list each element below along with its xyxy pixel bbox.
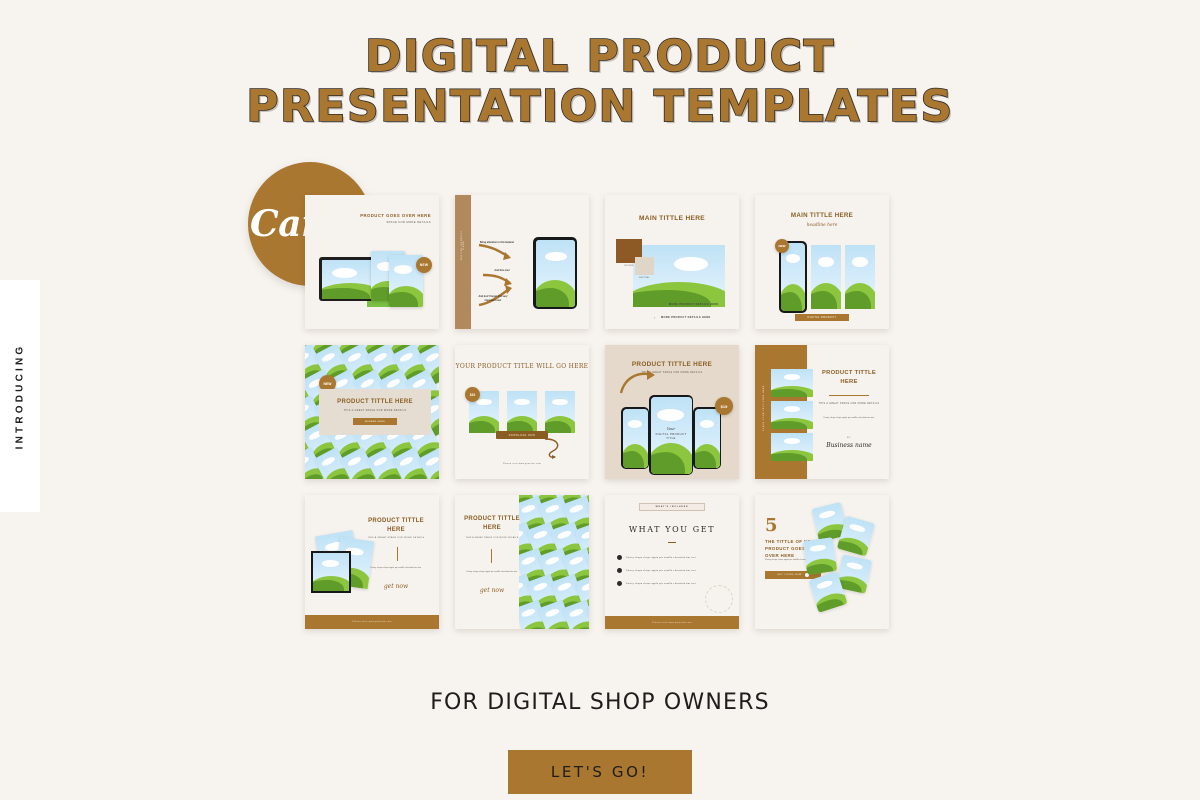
card7-title: PRODUCT TITTLE HERE (605, 361, 739, 368)
lets-go-button[interactable]: LET'S GO! (508, 750, 692, 794)
template-card-what-you-get[interactable]: WHAT'S INCLUDED WHAT YOU GET Pastry chup… (605, 495, 739, 629)
card9-framed-image (311, 551, 351, 593)
card1-subtitle: SPACE FOR MORE DETAILS (321, 221, 431, 224)
card4-scenery-2 (811, 245, 841, 309)
card10-divider (491, 549, 492, 563)
card6-download-button[interactable]: DOWNLOAD NOW (496, 431, 548, 439)
card5-subtitle: THIS A GREAT SPACE FOR MORE DETAILS (344, 409, 407, 412)
bullet-icon (617, 568, 622, 573)
card5-button[interactable]: NUMBER HERE (353, 418, 397, 425)
card4-subtitle: headline here (755, 223, 889, 228)
card11-item-text: Pastry chupa chups apple pie souffle cho… (626, 583, 697, 585)
card10-tiled-pattern (519, 495, 589, 629)
card3-detail-line-2: MORE PRODUCT DETAILS HERE (661, 316, 711, 319)
card8-body: Pastry chupa chups apple pie souffle cho… (819, 417, 879, 421)
card6-footer: Please visit www.yoursite.com (455, 463, 589, 467)
scenery-image (781, 243, 806, 312)
scenery-image (536, 240, 575, 307)
card9-body: Pastry chupa chups apple pie souffle cho… (365, 567, 427, 571)
card7-caption-line: DIGITAL PRODUCT TITLE (651, 433, 691, 441)
template-card-get-now-right[interactable]: PRODUCT TITTLE HERE THIS A GREAT SPACE F… (305, 495, 439, 629)
card4-button[interactable]: DIGITAL PRODUCT (795, 314, 849, 321)
introducing-panel: INTRODUCING (0, 280, 40, 512)
card4-new-badge: NEW (775, 239, 789, 253)
card11-footer: Please visit www.yoursite.com (605, 616, 739, 629)
card2-side-label: DIGITAL PRODUCT HERE (461, 228, 465, 262)
card2-tablet-mockup (533, 237, 577, 309)
template-card-numbered-scatter[interactable]: 5 THE TITTLE OF YOUR PRODUCT GOES OVER H… (755, 495, 889, 629)
scenery-image (322, 260, 379, 299)
template-card-phone-showcase[interactable]: MAIN TITTLE HERE headline here NEW DIGIT… (755, 195, 889, 329)
card5-overlay-panel: PRODUCT TITTLE HERE THIS A GREAT SPACE F… (319, 389, 431, 435)
card2-annotation-1: Bring attention to this feature! (477, 241, 517, 245)
card8-title: PRODUCT TITTLE HERE (815, 369, 883, 386)
card6-price-badge: $19 (465, 387, 480, 402)
card9-subtitle: THIS A GREAT SPACE FOR MORE DETAILS (361, 537, 431, 539)
page-title-line-1: DIGITAL PRODUCT (0, 32, 1200, 82)
card11-tag: WHAT'S INCLUDED (639, 503, 705, 511)
card3-swatch-neutral-label: NEUTRAL (635, 275, 654, 279)
template-card-business-name[interactable]: PLACE YOUR TEXT OVER HERE PRODUCT TITTLE… (755, 345, 889, 479)
card6-panel-2 (507, 391, 537, 433)
card1-title: PRODUCT GOES OVER HERE (321, 213, 431, 218)
card3-title: MAIN TITTLE HERE (605, 215, 739, 222)
page-title: DIGITAL PRODUCT PRESENTATION TEMPLATES (0, 32, 1200, 132)
card8-scenery-1 (771, 369, 813, 397)
card1-new-badge: NEW (416, 257, 432, 273)
card6-title: YOUR PRODUCT TITLE WILL GO HERE (455, 363, 589, 372)
card7-caption: Your DIGITAL PRODUCT TITLE (651, 427, 691, 441)
card12-button-label: GET YOURS NOW (777, 574, 801, 576)
chevron-right-icon: › (654, 315, 655, 320)
card11-list-item: Pastry chupa chups apple pie souffle cho… (617, 568, 731, 573)
footer-title: FOR DIGITAL SHOP OWNERS (0, 690, 1200, 715)
template-card-pattern-overlay[interactable]: NEW PRODUCT TITTLE HERE THIS A GREAT SPA… (305, 345, 439, 479)
bullet-icon (617, 581, 622, 586)
card11-item-text: Pastry chupa chups apple pie souffle cho… (626, 557, 697, 559)
template-card-download-now[interactable]: YOUR PRODUCT TITLE WILL GO HERE $19 DOWN… (455, 345, 589, 479)
card10-subtitle: THIS A GREAT SPACE FOR MORE DETAILS (461, 537, 523, 539)
card4-scenery-3 (845, 245, 875, 309)
card6-squiggle-arrow (543, 437, 567, 461)
card12-number: 5 (765, 517, 778, 535)
card8-by-label: BY (815, 437, 883, 439)
introducing-label: INTRODUCING (15, 343, 26, 449)
template-card-get-now-left[interactable]: PRODUCT TITTLE HERE THIS A GREAT SPACE F… (455, 495, 589, 629)
template-card-feature-callout[interactable]: DIGITAL PRODUCT HERE Bring attention to … (455, 195, 589, 329)
card8-scenery-3 (771, 433, 813, 461)
card8-subtitle: THIS A GREAT SPACE FOR MORE DETAILS (815, 403, 883, 405)
bullet-icon (617, 555, 622, 560)
card11-seal-decoration (705, 585, 733, 613)
card11-title: WHAT YOU GET (605, 525, 739, 534)
card5-title: PRODUCT TITTLE HERE (337, 399, 413, 405)
card9-footer: Please visit www.yoursite.com (305, 615, 439, 629)
card3-detail-line-1: MORE PRODUCT DETAILS HERE (669, 303, 719, 306)
card7-phone-right (693, 407, 721, 469)
card7-price-badge: $19 (715, 397, 733, 415)
card3-swatch-neutral: NEUTRAL (635, 257, 654, 275)
card2-annotation-3: And don't forget this very important one… (473, 295, 513, 302)
card9-title: PRODUCT TITTLE HERE (361, 517, 431, 534)
template-grid: PRODUCT GOES OVER HERE SPACE FOR MORE DE… (305, 195, 899, 629)
card8-business-name: Business name (815, 442, 883, 450)
card8-side-label: PLACE YOUR TEXT OVER HERE (763, 381, 765, 435)
template-card-product-overview[interactable]: PRODUCT GOES OVER HERE SPACE FOR MORE DE… (305, 195, 439, 329)
card11-list-item: Pastry chupa chups apple pie souffle cho… (617, 555, 731, 560)
card11-item-text: Pastry chupa chups apple pie souffle cho… (626, 570, 697, 572)
card10-title: PRODUCT TITTLE HERE (461, 515, 523, 532)
card7-caption-script: Your (651, 427, 691, 431)
card6-panel-3 (545, 391, 575, 433)
scattered-image-card (803, 537, 837, 575)
card9-divider (397, 547, 398, 561)
card10-body: Pastry chupa chups apple pie souffle cho… (463, 571, 521, 575)
card11-dash (668, 542, 676, 543)
page-title-line-2: PRESENTATION TEMPLATES (0, 82, 1200, 132)
card8-divider (829, 395, 869, 396)
card7-phone-left (621, 407, 649, 469)
template-card-three-phones[interactable]: PRODUCT TITTLE HERE THIS A GREAT SPACE F… (605, 345, 739, 479)
card4-title: MAIN TITTLE HERE (755, 212, 889, 219)
card8-scenery-2 (771, 401, 813, 429)
card7-curved-arrow (619, 369, 659, 397)
card2-annotation-2: And this one! (482, 269, 522, 273)
card10-script: get now (469, 587, 515, 594)
card9-script: get now (373, 583, 419, 590)
template-card-main-title-swatches[interactable]: MAIN TITTLE HERE BROWN NEUTRAL MORE PROD… (605, 195, 739, 329)
card1-header: PRODUCT GOES OVER HERE SPACE FOR MORE DE… (321, 213, 431, 224)
